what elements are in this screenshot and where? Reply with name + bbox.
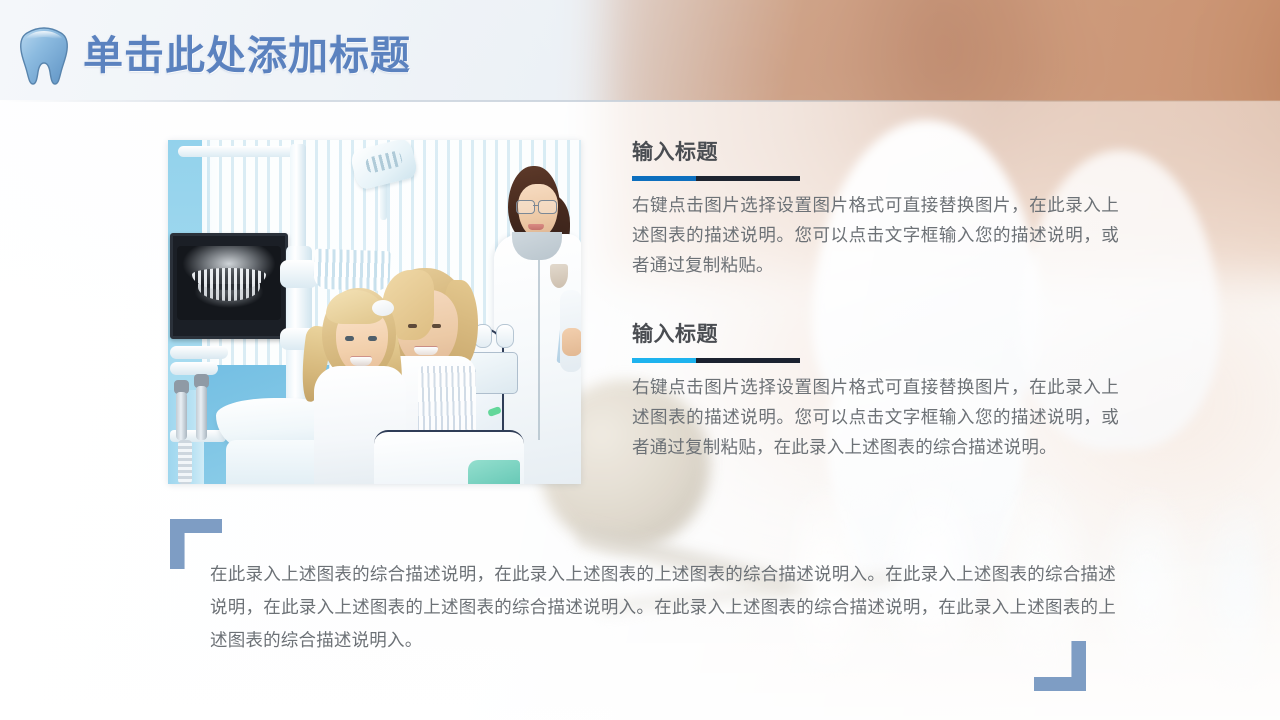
page-title: 单击此处添加标题 xyxy=(83,23,411,81)
photo-xray-image xyxy=(177,246,281,320)
photo-post-joint xyxy=(280,260,318,288)
block-2-title: 输入标题 xyxy=(632,318,1132,348)
photo-mother-eye-right xyxy=(432,324,441,328)
photo-coat-placket xyxy=(538,260,540,440)
block-1-title: 输入标题 xyxy=(632,136,1132,166)
photo-suction-hose-2 xyxy=(170,362,218,375)
header-divider xyxy=(0,100,1280,102)
summary-paragraph: 在此录入上述图表的综合描述说明，在此录入上述图表的上述图表的综合描述说明入。在此… xyxy=(210,558,1116,657)
tooth-icon xyxy=(18,25,70,87)
photo-mother-eye-left xyxy=(408,324,417,328)
photo-teal-bib xyxy=(468,460,520,484)
photo-xray-monitor xyxy=(170,233,288,339)
photo-child-hair-tie xyxy=(372,300,394,316)
photo-suction-hose xyxy=(170,346,228,359)
photo-mother-smile xyxy=(414,346,438,355)
photo-dentist-lips xyxy=(528,224,544,230)
dental-clinic-photo[interactable] xyxy=(168,140,581,484)
divider-accent-segment xyxy=(632,176,696,181)
photo-handpiece-2 xyxy=(196,386,207,440)
photo-child-eye-left xyxy=(345,336,354,341)
photo-dentist-hand xyxy=(562,328,581,356)
photo-handpiece xyxy=(176,392,187,440)
photo-hose-coil xyxy=(178,440,192,484)
block-2-divider xyxy=(632,358,800,363)
photo-chair-headrest-buttons xyxy=(474,324,516,346)
slide-canvas: 单击此处添加标题 xyxy=(0,0,1280,720)
photo-child-eye-right xyxy=(368,336,377,341)
photo-instrument-tray xyxy=(313,249,390,292)
block-2-body: 右键点击图片选择设置图片格式可直接替换图片，在此录入上述图表的描述说明。您可以点… xyxy=(632,372,1119,462)
divider-dark-segment xyxy=(696,358,800,363)
block-1-body: 右键点击图片选择设置图片格式可直接替换图片，在此录入上述图表的描述说明。您可以点… xyxy=(632,190,1119,280)
photo-dentist-glasses xyxy=(516,200,560,212)
divider-accent-segment xyxy=(632,358,696,363)
content-block-2: 输入标题 右键点击图片选择设置图片格式可直接替换图片，在此录入上述图表的描述说明… xyxy=(632,318,1132,462)
divider-dark-segment xyxy=(696,176,800,181)
block-1-divider xyxy=(632,176,800,181)
content-block-1: 输入标题 右键点击图片选择设置图片格式可直接替换图片，在此录入上述图表的描述说明… xyxy=(632,136,1132,280)
photo-child-smile xyxy=(350,356,372,366)
slide-header: 单击此处添加标题 xyxy=(0,0,1280,101)
photo-ceiling-arm xyxy=(178,146,298,157)
